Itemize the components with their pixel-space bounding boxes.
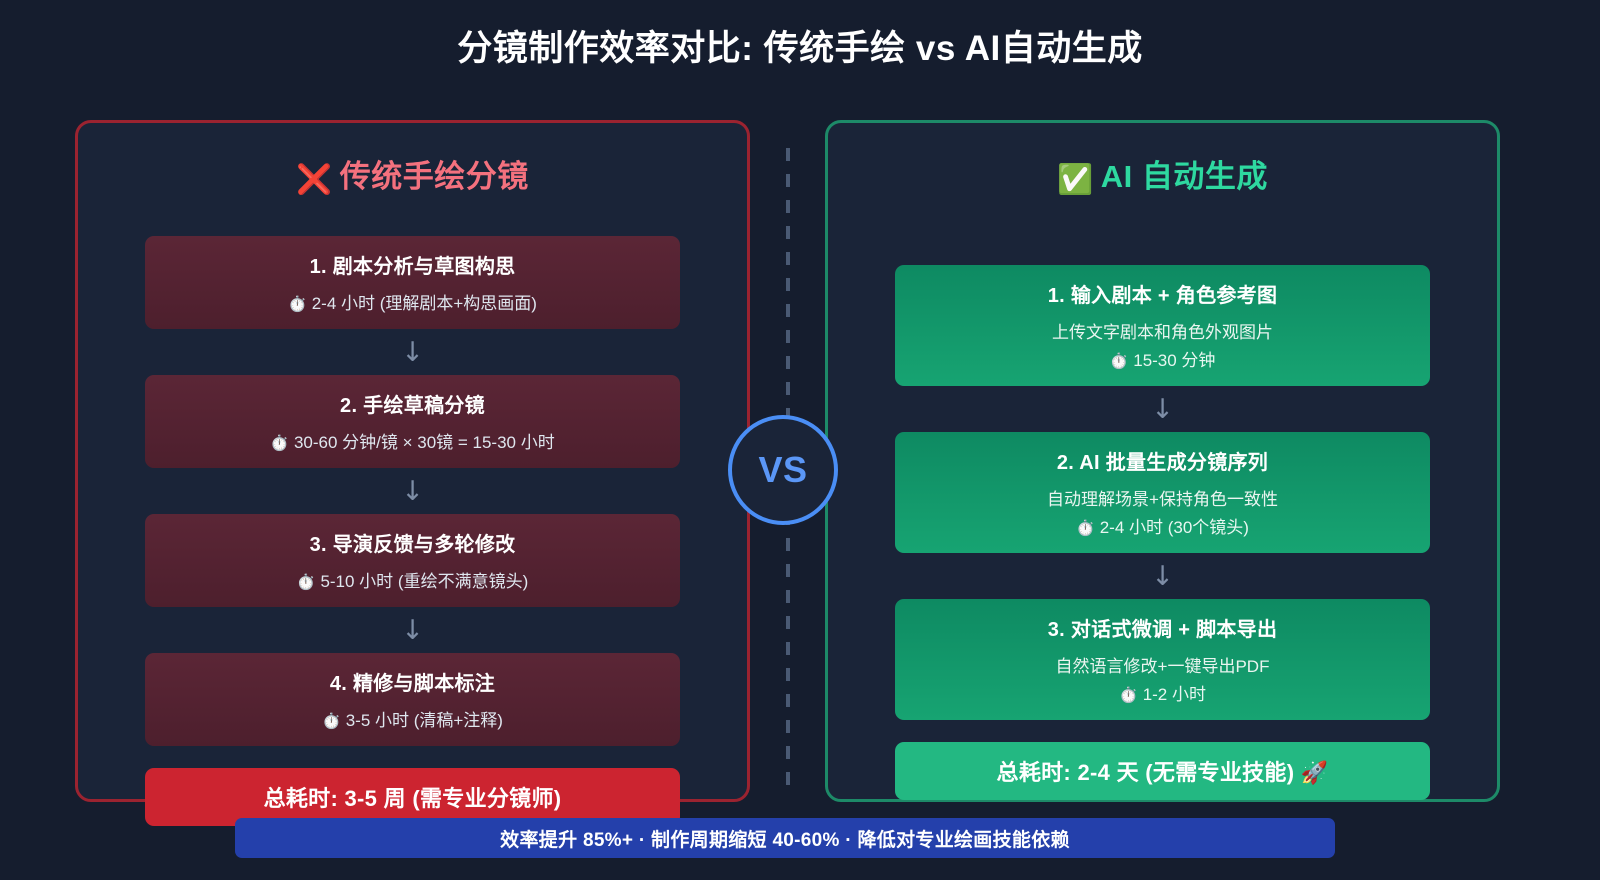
cross-mark-icon: ❌ — [296, 164, 333, 196]
step-card-meta: ⏱️5-10 小时 (重绘不满意镜头) — [159, 567, 666, 592]
step-card: 3. 导演反馈与多轮修改 ⏱️5-10 小时 (重绘不满意镜头) — [145, 514, 680, 607]
vs-badge: VS — [728, 415, 838, 525]
step-card-meta: ⏱️2-4 小时 (30个镜头) — [909, 513, 1416, 538]
step-card-meta: ⏱️2-4 小时 (理解剧本+构思画面) — [159, 289, 666, 314]
step-card-meta: ⏱️15-30 分钟 — [909, 346, 1416, 371]
stopwatch-icon: ⏱️ — [270, 435, 289, 452]
step-card-meta-label: 2-4 小时 (理解剧本+构思画面) — [312, 294, 537, 313]
step-card: 1. 输入剧本 + 角色参考图 上传文字剧本和角色外观图片 ⏱️15-30 分钟 — [895, 265, 1430, 386]
step-card-desc: 自然语言修改+一键导出PDF — [909, 652, 1416, 677]
stopwatch-icon: ⏱️ — [1076, 520, 1095, 537]
step-card-title: 1. 剧本分析与草图构思 — [159, 250, 666, 279]
step-card-meta: ⏱️30-60 分钟/镜 × 30镜 = 15-30 小时 — [159, 428, 666, 453]
ai-total-banner: 总耗时: 2-4 天 (无需专业技能) 🚀 — [895, 742, 1430, 800]
flow-arrow-down-icon: ↓ — [401, 617, 424, 644]
traditional-step-flow: 1. 剧本分析与草图构思 ⏱️2-4 小时 (理解剧本+构思画面) ↓ 2. 手… — [78, 236, 747, 826]
panel-ai: ✅AI 自动生成 1. 输入剧本 + 角色参考图 上传文字剧本和角色外观图片 ⏱… — [825, 120, 1500, 802]
step-card: 2. 手绘草稿分镜 ⏱️30-60 分钟/镜 × 30镜 = 15-30 小时 — [145, 375, 680, 468]
step-card: 4. 精修与脚本标注 ⏱️3-5 小时 (清稿+注释) — [145, 653, 680, 746]
stopwatch-icon: ⏱️ — [1119, 687, 1138, 704]
step-card-meta-label: 2-4 小时 (30个镜头) — [1100, 518, 1249, 537]
panel-traditional-header: ❌传统手绘分镜 — [78, 123, 747, 197]
step-card: 3. 对话式微调 + 脚本导出 自然语言修改+一键导出PDF ⏱️1-2 小时 — [895, 599, 1430, 720]
flow-arrow-down-icon: ↓ — [401, 478, 424, 505]
stopwatch-icon: ⏱️ — [297, 574, 316, 591]
footer-summary-banner: 效率提升 85%+ · 制作周期缩短 40-60% · 降低对专业绘画技能依赖 — [235, 818, 1335, 858]
step-card-meta-label: 15-30 分钟 — [1133, 351, 1215, 370]
step-card-title: 1. 输入剧本 + 角色参考图 — [909, 279, 1416, 308]
panel-ai-header-label: AI 自动生成 — [1101, 159, 1268, 194]
step-card-meta-label: 5-10 小时 (重绘不满意镜头) — [320, 572, 528, 591]
step-card-title: 4. 精修与脚本标注 — [159, 667, 666, 696]
page-title: 分镜制作效率对比: 传统手绘 vs AI自动生成 — [0, 20, 1600, 71]
step-card-desc: 自动理解场景+保持角色一致性 — [909, 485, 1416, 510]
step-card-meta-label: 1-2 小时 — [1143, 685, 1206, 704]
step-card-title: 3. 对话式微调 + 脚本导出 — [909, 613, 1416, 642]
step-card-meta: ⏱️1-2 小时 — [909, 680, 1416, 705]
flow-arrow-down-icon: ↓ — [1151, 563, 1174, 590]
step-card-desc: 上传文字剧本和角色外观图片 — [909, 318, 1416, 343]
step-card-meta-label: 3-5 小时 (清稿+注释) — [346, 711, 503, 730]
flow-arrow-down-icon: ↓ — [1151, 396, 1174, 423]
step-card-title: 2. AI 批量生成分镜序列 — [909, 446, 1416, 475]
panel-traditional-header-label: 传统手绘分镜 — [340, 159, 529, 194]
step-card-meta: ⏱️3-5 小时 (清稿+注释) — [159, 706, 666, 731]
flow-arrow-down-icon: ↓ — [401, 339, 424, 366]
stopwatch-icon: ⏱️ — [1110, 353, 1129, 370]
stopwatch-icon: ⏱️ — [288, 296, 307, 313]
check-mark-button-icon: ✅ — [1057, 164, 1094, 196]
step-card-title: 3. 导演反馈与多轮修改 — [159, 528, 666, 557]
panel-traditional: ❌传统手绘分镜 1. 剧本分析与草图构思 ⏱️2-4 小时 (理解剧本+构思画面… — [75, 120, 750, 802]
step-card-meta-label: 30-60 分钟/镜 × 30镜 = 15-30 小时 — [294, 433, 555, 452]
step-card: 2. AI 批量生成分镜序列 自动理解场景+保持角色一致性 ⏱️2-4 小时 (… — [895, 432, 1430, 553]
step-card: 1. 剧本分析与草图构思 ⏱️2-4 小时 (理解剧本+构思画面) — [145, 236, 680, 329]
ai-step-flow: 1. 输入剧本 + 角色参考图 上传文字剧本和角色外观图片 ⏱️15-30 分钟… — [828, 265, 1497, 800]
panel-ai-header: ✅AI 自动生成 — [828, 123, 1497, 197]
stopwatch-icon: ⏱️ — [322, 713, 341, 730]
step-card-title: 2. 手绘草稿分镜 — [159, 389, 666, 418]
